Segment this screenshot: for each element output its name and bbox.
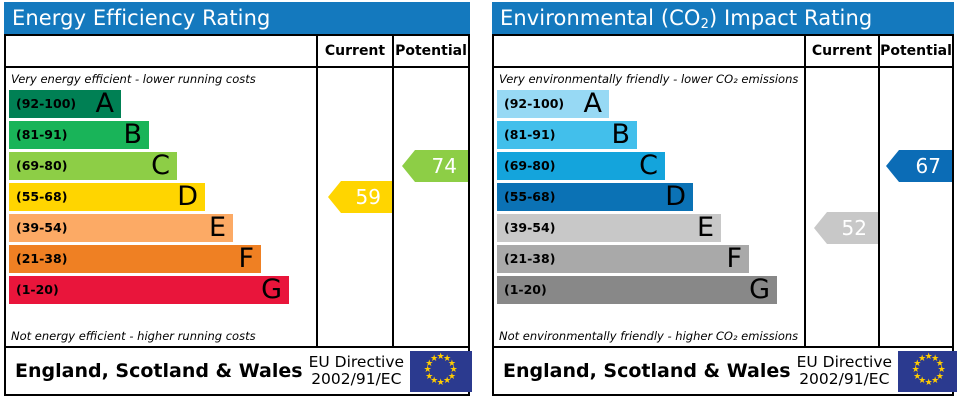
rating-band-g: (1-20)G (9, 276, 289, 304)
table-body-row: Very energy efficient - lower running co… (6, 68, 468, 346)
footer-region: England, Scotland & Wales (6, 360, 303, 382)
band-letter-label: E (209, 214, 226, 241)
rating-band-b: (81-91)B (497, 121, 637, 149)
footer-directive-line1: EU Directive (309, 354, 405, 371)
band-letter-label: F (726, 245, 742, 272)
band-column: Very environmentally friendly - lower CO… (494, 68, 804, 346)
band-range-label: (21-38) (16, 253, 67, 266)
rating-band-g: (1-20)G (497, 276, 777, 304)
header-current: Current (804, 36, 878, 66)
energy-efficiency-footer: England, Scotland & Wales EU Directive 2… (4, 348, 470, 396)
environmental-co2-title-text: Environmental (CO (500, 6, 701, 30)
rating-band-f: (21-38)F (9, 245, 261, 273)
band-letter-label: C (151, 152, 170, 179)
band-letter-label: F (238, 245, 254, 272)
environmental-co2-footer: England, Scotland & Wales EU Directive 2… (492, 348, 954, 396)
header-current: Current (316, 36, 392, 66)
potential-column: 67 (878, 68, 952, 346)
band-range-label: (69-80) (16, 160, 67, 173)
environmental-co2-title: Environmental (CO2) Impact Rating (492, 2, 954, 34)
band-letter-label: E (697, 214, 714, 241)
rating-band-d: (55-68)D (497, 183, 693, 211)
footer-directive-line2: 2002/91/EC (797, 371, 893, 388)
environmental-co2-table: Current Potential Very environmentally f… (492, 34, 954, 348)
band-letter-label: B (611, 121, 630, 148)
current-rating-arrow: 59 (328, 181, 392, 213)
caption-bottom: Not energy efficient - higher running co… (11, 329, 256, 343)
eu-flag-icon: ★★★★★★★★★★★★ (898, 351, 957, 392)
footer-directive: EU Directive 2002/91/EC (791, 354, 899, 387)
rating-band-a: (92-100)A (9, 90, 121, 118)
rating-band-e: (39-54)E (9, 214, 233, 242)
band-range-label: (39-54) (504, 222, 555, 235)
current-rating-arrow: 52 (814, 212, 878, 244)
potential-rating-arrow: 67 (886, 150, 952, 182)
header-blank-cell (494, 36, 804, 66)
band-range-label: (69-80) (504, 160, 555, 173)
rating-band-f: (21-38)F (497, 245, 749, 273)
band-range-label: (55-68) (16, 191, 67, 204)
band-letter-label: D (177, 183, 198, 210)
environmental-co2-title-tail: ) Impact Rating (709, 6, 872, 30)
band-letter-label: A (96, 90, 114, 117)
rating-band-b: (81-91)B (9, 121, 149, 149)
potential-rating-arrow: 74 (402, 150, 468, 182)
band-range-label: (1-20) (16, 284, 59, 297)
band-letter-label: C (639, 152, 658, 179)
environmental-co2-impact-chart: Environmental (CO2) Impact Rating Curren… (478, 0, 957, 404)
band-range-label: (21-38) (504, 253, 555, 266)
footer-directive: EU Directive 2002/91/EC (303, 354, 411, 387)
caption-top: Very environmentally friendly - lower CO… (499, 72, 798, 86)
rating-band-a: (92-100)A (497, 90, 609, 118)
footer-directive-line2: 2002/91/EC (309, 371, 405, 388)
rating-band-e: (39-54)E (497, 214, 721, 242)
table-header-row: Current Potential (494, 36, 952, 68)
band-range-label: (39-54) (16, 222, 67, 235)
band-range-label: (81-91) (16, 129, 67, 142)
footer-region: England, Scotland & Wales (494, 360, 791, 382)
rating-band-c: (69-80)C (9, 152, 177, 180)
co2-subscript: 2 (701, 17, 709, 32)
band-column: Very energy efficient - lower running co… (6, 68, 316, 346)
rating-band-c: (69-80)C (497, 152, 665, 180)
caption-bottom: Not environmentally friendly - higher CO… (499, 329, 798, 343)
band-range-label: (81-91) (504, 129, 555, 142)
header-potential: Potential (392, 36, 468, 66)
band-range-label: (1-20) (504, 284, 547, 297)
band-range-label: (92-100) (16, 98, 76, 111)
band-letter-label: D (665, 183, 686, 210)
potential-column: 74 (392, 68, 468, 346)
band-letter-label: G (749, 276, 770, 303)
energy-efficiency-title: Energy Efficiency Rating (4, 2, 470, 34)
band-letter-label: A (584, 90, 602, 117)
caption-top: Very energy efficient - lower running co… (11, 72, 256, 86)
band-range-label: (92-100) (504, 98, 564, 111)
rating-band-d: (55-68)D (9, 183, 205, 211)
table-header-row: Current Potential (6, 36, 468, 68)
energy-efficiency-title-text: Energy Efficiency Rating (12, 6, 270, 30)
energy-efficiency-table: Current Potential Very energy efficient … (4, 34, 470, 348)
current-column: 59 (316, 68, 392, 346)
current-column: 52 (804, 68, 878, 346)
energy-efficiency-chart: Energy Efficiency Rating Current Potenti… (0, 0, 478, 404)
band-letter-label: G (261, 276, 282, 303)
table-body-row: Very environmentally friendly - lower CO… (494, 68, 952, 346)
header-potential: Potential (878, 36, 952, 66)
band-range-label: (55-68) (504, 191, 555, 204)
band-letter-label: B (123, 121, 142, 148)
footer-directive-line1: EU Directive (797, 354, 893, 371)
eu-flag-icon: ★★★★★★★★★★★★ (410, 351, 472, 392)
header-blank-cell (6, 36, 316, 66)
epc-charts-page: Energy Efficiency Rating Current Potenti… (0, 0, 957, 404)
